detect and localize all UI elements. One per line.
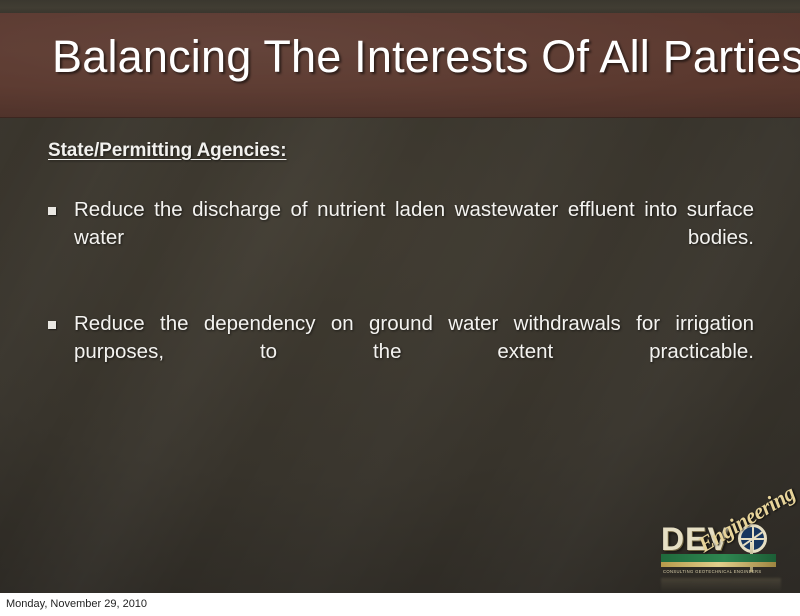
logo-green-bar [661, 554, 776, 562]
slide-body: State/Permitting Agencies: Reduce the di… [48, 140, 754, 423]
logo-reflection [661, 578, 781, 592]
logo-gold-bar [661, 562, 776, 567]
bullet-square-icon [48, 321, 56, 329]
bullet-square-icon [48, 207, 56, 215]
page-title: Balancing The Interests Of All Parties [52, 31, 770, 83]
bullet-text: Reduce the discharge of nutrient laden w… [74, 196, 754, 280]
slide-footer: Monday, November 29, 2010 [0, 593, 800, 616]
slide-top-strip [0, 0, 800, 13]
footer-date: Monday, November 29, 2010 [6, 598, 147, 610]
logo-tagline: CONSULTING GEOTECHNICAL ENGINEERS [663, 569, 781, 574]
devo-engineering-logo: DEV CONSULTING GEOTECHNICAL ENGINEERS En… [655, 518, 795, 590]
presentation-slide: Balancing The Interests Of All Parties S… [0, 0, 800, 593]
bullet-text: Reduce the dependency on ground water wi… [74, 310, 754, 394]
list-item: Reduce the discharge of nutrient laden w… [48, 196, 754, 280]
list-item: Reduce the dependency on ground water wi… [48, 310, 754, 394]
section-heading: State/Permitting Agencies: [48, 140, 754, 162]
